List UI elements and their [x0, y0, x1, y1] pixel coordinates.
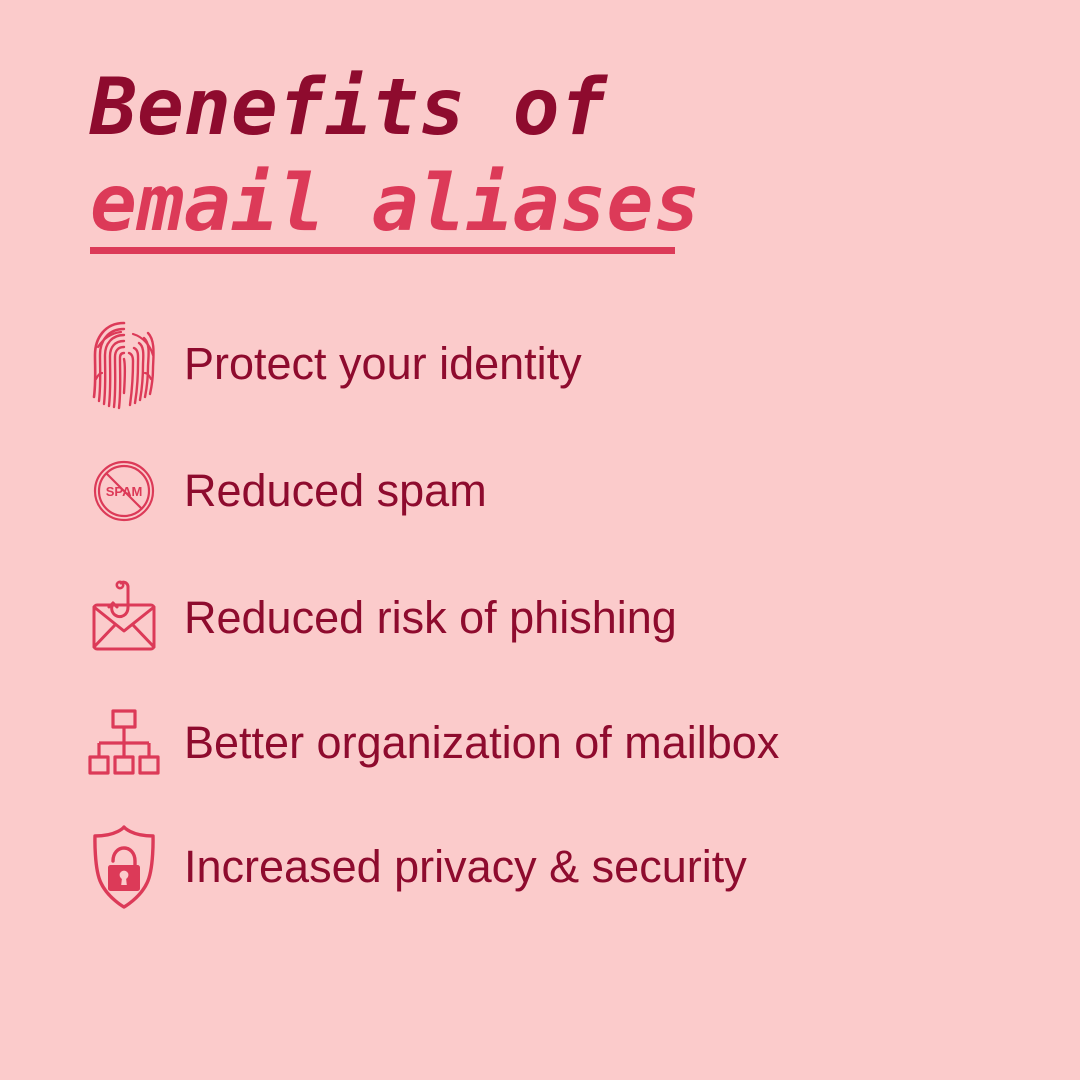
- list-item: Protect your identity: [0, 300, 1080, 428]
- list-item: Reduced risk of phishing: [0, 554, 1080, 682]
- list-item: Increased privacy & security: [0, 804, 1080, 930]
- list-item-label: Protect your identity: [184, 338, 582, 390]
- title-underline: [90, 247, 675, 254]
- list-item-label: Better organization of mailbox: [184, 717, 779, 769]
- title-line-benefits-of: Benefits of: [90, 62, 990, 154]
- list-item-label: Reduced spam: [184, 465, 487, 517]
- fingerprint-icon: [86, 314, 162, 414]
- poster-title: Benefits of email aliases: [90, 62, 990, 250]
- benefits-poster: Benefits of email aliases: [0, 0, 1080, 1080]
- phishing-envelope-icon: [86, 568, 162, 668]
- list-item-label: Reduced risk of phishing: [184, 592, 677, 644]
- org-chart-icon: [86, 693, 162, 793]
- no-spam-icon: SPAM: [86, 441, 162, 541]
- title-line-email-aliases: email aliases: [90, 158, 700, 250]
- title-line-email-aliases-wrap: email aliases: [90, 158, 700, 250]
- list-item: SPAM Reduced spam: [0, 428, 1080, 554]
- shield-lock-icon: [86, 817, 162, 917]
- benefits-list: Protect your identity SPAM Reduced spam: [0, 300, 1080, 930]
- spam-text: SPAM: [106, 484, 143, 499]
- list-item-label: Increased privacy & security: [184, 841, 747, 893]
- list-item: Better organization of mailbox: [0, 682, 1080, 804]
